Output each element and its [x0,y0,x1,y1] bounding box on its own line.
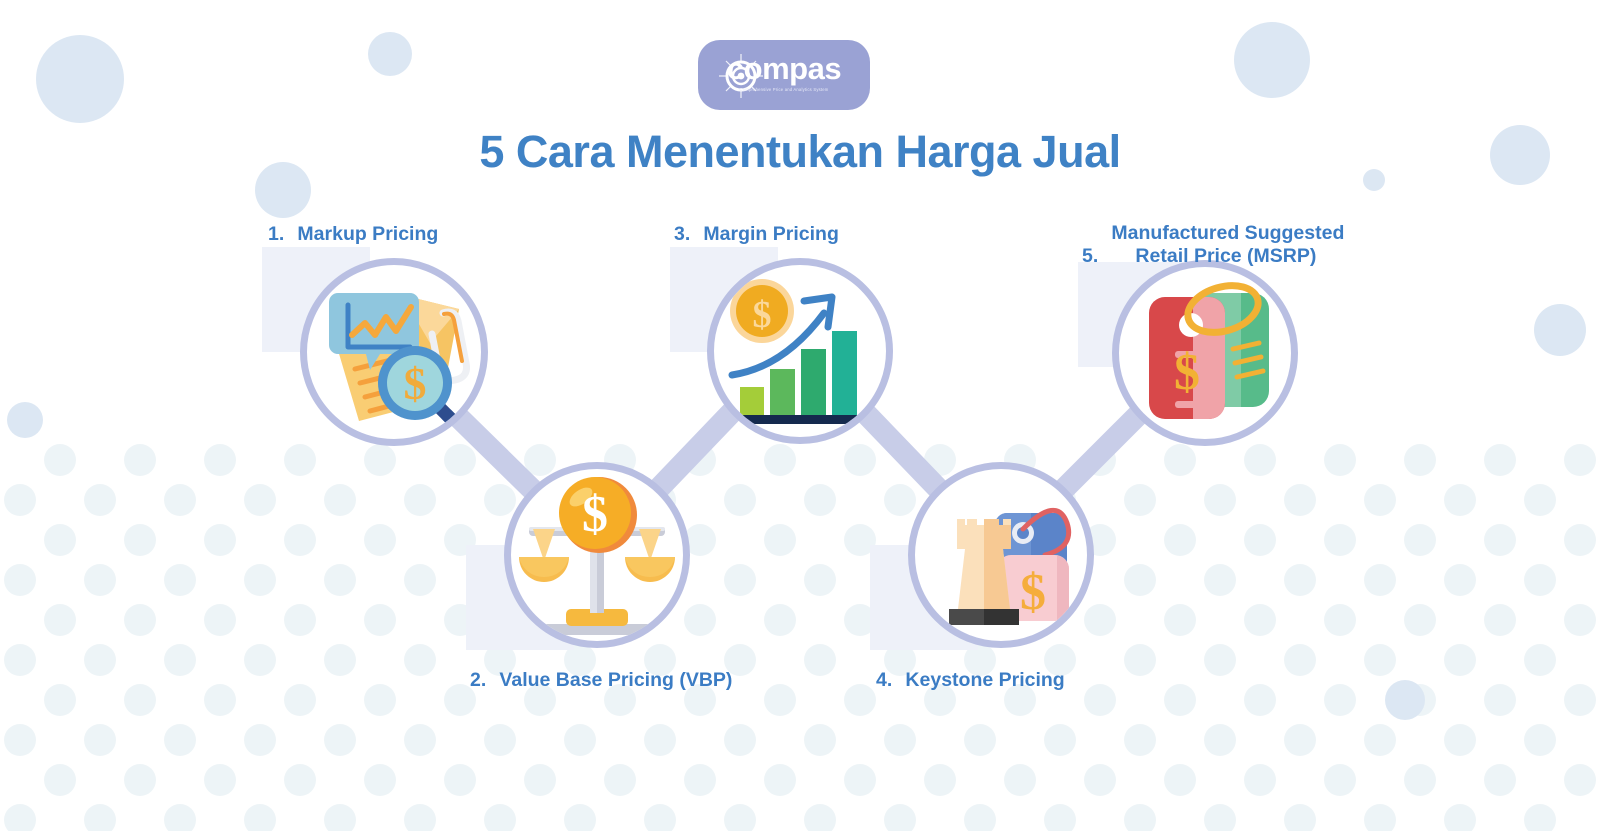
step-5-title: Manufactured SuggestedRetail Price (MSRP… [1111,222,1344,268]
step-5-title-line2: Retail Price (MSRP) [1111,245,1344,268]
step-2-icon-clip: $ [511,469,683,641]
balance-scale-coin-icon: $ [511,469,683,641]
step-3-icon-clip: $ [714,265,886,437]
growth-bar-chart-coin-icon: $ [714,265,886,437]
page-title: 5 Cara Menentukan Harga Jual [0,126,1600,178]
svg-text:$: $ [582,486,608,543]
svg-text:$: $ [404,358,427,409]
step-2-number: 2. [470,669,494,692]
price-tags-ring-icon: $ [1119,267,1291,439]
step-1-label: 1. Markup Pricing [268,223,438,246]
step-1-title: Markup Pricing [297,223,438,246]
svg-text:$: $ [1174,344,1200,401]
compas-wordmark: compas [704,53,864,84]
step-2-label: 2. Value Base Pricing (VBP) [470,669,732,692]
compas-tagline: Comprehensive Price and Analytics System [704,87,864,92]
step-4-number: 4. [876,669,900,692]
chart-documents-magnifier-icon: $ [307,265,481,439]
step-1-icon-clip: $ [307,265,481,439]
step-5-number: 5. [1082,245,1106,268]
step-3-label: 3. Margin Pricing [674,223,839,246]
step-5-title-line1: Manufactured Suggested [1111,222,1344,244]
chess-rook-price-tag-icon: $ [915,469,1087,641]
step-3-number: 3. [674,223,698,246]
compas-logo[interactable]: compas Comprehensive Price and Analytics… [698,40,870,110]
svg-text:$: $ [1020,564,1046,621]
svg-text:$: $ [753,294,772,336]
step-4-label: 4. Keystone Pricing [876,669,1065,692]
step-5-icon-clip: $ [1119,267,1291,439]
step-5-label: 5. Manufactured SuggestedRetail Price (M… [1082,222,1344,268]
step-2-title: Value Base Pricing (VBP) [499,669,732,692]
step-1-number: 1. [268,223,292,246]
step-4-icon-clip: $ [915,469,1087,641]
step-4-title: Keystone Pricing [905,669,1064,692]
step-3-title: Margin Pricing [703,223,838,246]
